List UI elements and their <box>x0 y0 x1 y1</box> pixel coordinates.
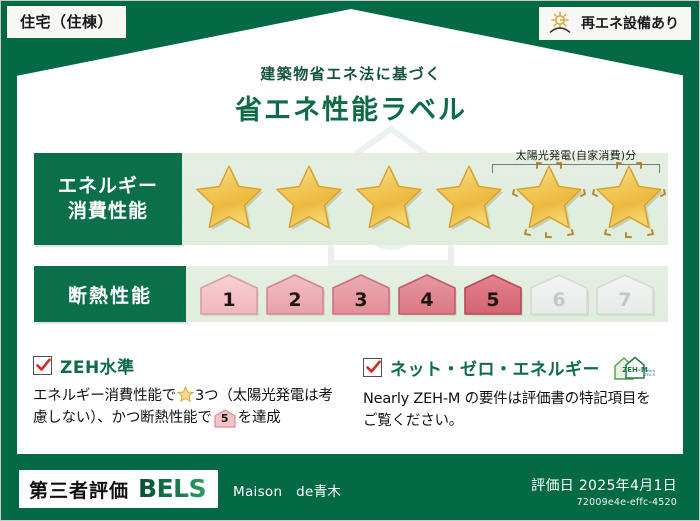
zeh-standard-body: エネルギー消費性能で3つ（太陽光発電は考慮しない）、かつ断熱性能で5を達成 <box>33 385 333 429</box>
insulation-grade-number: 4 <box>420 289 433 316</box>
zeh-standard-header: ZEH水準 <box>33 353 333 378</box>
zeh-standard-title: ZEH水準 <box>60 353 135 378</box>
insulation-performance-row: 断熱性能 1234567 <box>34 266 668 322</box>
renewable-equipment-tag: 再エネ設備あり <box>539 7 691 40</box>
insulation-grade-active: 2 <box>264 272 326 316</box>
star-filled <box>190 160 268 238</box>
net-zero-checkbox <box>363 358 382 377</box>
insulation-grade-number: 6 <box>552 289 565 316</box>
zeh-checkbox <box>33 356 52 375</box>
insulation-grade-active: 5 <box>462 272 524 316</box>
third-party-label: 第三者評価 <box>29 476 129 503</box>
bels-badge: 第三者評価 BELS <box>19 470 218 508</box>
zeh-standard-panel: ZEH水準 エネルギー消費性能で3つ（太陽光発電は考慮しない）、かつ断熱性能で5… <box>33 353 333 429</box>
document-id: 72009e4e-effc-4520 <box>531 497 677 508</box>
zeh-m-logo-icon: ZEH-M Nearly ZEH-M <box>611 353 655 381</box>
evaluation-date: 評価日 2025年4月1日 <box>531 475 677 495</box>
energy-performance-label: 住宅（住棟） 再エネ設備あり 建築物省エネ法に基づく 省エネ性能ラベル 太陽光発… <box>0 0 700 521</box>
energy-label-line2: 消費性能 <box>68 199 148 224</box>
energy-performance-label-box: エネルギー 消費性能 <box>34 153 182 245</box>
solar-generation-note: 太陽光発電(自家消費)分 <box>481 147 671 173</box>
renewable-equipment-label: 再エネ設備あり <box>581 13 679 33</box>
solar-note-text: 太陽光発電(自家消費)分 <box>481 147 671 163</box>
housing-type-tag: 住宅（住棟） <box>7 6 126 38</box>
insulation-grade-active: 1 <box>198 272 260 316</box>
zeh-body-part1: エネルギー消費性能で <box>33 388 176 404</box>
insulation-grade-number: 1 <box>222 289 235 316</box>
inline-star-icon <box>177 386 194 403</box>
net-zero-energy-title: ネット・ゼロ・エネルギー <box>390 355 600 380</box>
bels-logo-text: BELS <box>138 474 206 503</box>
insulation-grade-list: 1234567 <box>190 272 656 316</box>
evaluation-date-label: 評価日 <box>531 478 574 494</box>
title-main: 省エネ性能ラベル <box>1 88 700 127</box>
net-zero-energy-body: Nearly ZEH-M の要件は評価書の特記項目をご覧ください。 <box>363 388 663 432</box>
insulation-grade-number: 3 <box>354 289 367 316</box>
solar-bracket <box>492 164 660 173</box>
net-zero-energy-panel: ネット・ゼロ・エネルギー ZEH-M Nearly ZEH-M Nearly Z… <box>363 353 663 432</box>
inline-grade-number: 5 <box>214 409 236 428</box>
insulation-grade-inactive: 6 <box>528 272 590 316</box>
project-name: Maison de青木 <box>233 480 341 500</box>
evaluation-date-value: 2025年4月1日 <box>579 478 677 494</box>
star-filled <box>270 160 348 238</box>
star-filled <box>350 160 428 238</box>
energy-label-line1: エネルギー <box>58 174 158 199</box>
net-zero-energy-header: ネット・ゼロ・エネルギー ZEH-M Nearly ZEH-M <box>363 353 663 381</box>
title-subtitle: 建築物省エネ法に基づく <box>1 63 700 84</box>
insulation-performance-label-box: 断熱性能 <box>34 266 186 322</box>
svg-text:ZEH-M: ZEH-M <box>644 373 655 377</box>
insulation-grade-number: 5 <box>486 289 499 316</box>
check-icon <box>365 359 382 376</box>
insulation-label: 断熱性能 <box>68 281 152 308</box>
evaluation-info: 評価日 2025年4月1日 72009e4e-effc-4520 <box>531 475 677 508</box>
sun-icon <box>548 11 574 35</box>
check-icon <box>35 357 52 374</box>
insulation-grade-number: 2 <box>288 289 301 316</box>
insulation-grade-track: 1234567 <box>186 266 668 322</box>
insulation-grade-number: 7 <box>618 289 631 316</box>
zeh-body-part3: を達成 <box>238 410 281 426</box>
insulation-grade-active: 4 <box>396 272 458 316</box>
insulation-grade-inactive: 7 <box>594 272 656 316</box>
insulation-grade-active: 3 <box>330 272 392 316</box>
title-block: 建築物省エネ法に基づく 省エネ性能ラベル <box>1 63 700 127</box>
inline-grade-badge: 5 <box>214 409 236 426</box>
